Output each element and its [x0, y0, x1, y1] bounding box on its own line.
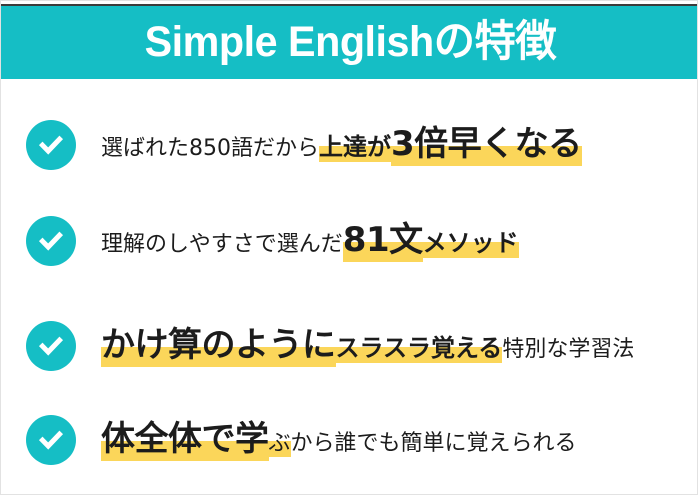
list-item: かけ算のように スラスラ覚える 特別な学習法: [1, 309, 698, 383]
highlighted-segment: ぶ: [269, 432, 291, 455]
slide-canvas: Simple Englishの特徴 選ばれた850語だから 上達が 3倍早くなる: [0, 0, 698, 495]
text-segment: 選ばれた850語だから: [101, 137, 319, 160]
text-segment: 理解のしやすさで選んだ: [101, 233, 343, 256]
text-segment: 81文: [343, 220, 423, 260]
list-item-text: かけ算のように スラスラ覚える 特別な学習法: [101, 328, 698, 364]
text-segment: から誰でも簡単に覚えられる: [291, 432, 577, 455]
header-banner: Simple Englishの特徴: [1, 4, 698, 79]
highlighted-segment: メソッド: [423, 231, 519, 256]
highlighted-segment: かけ算のように: [101, 328, 336, 364]
text-segment: かけ算のように: [101, 325, 336, 365]
text-segment: メソッド: [423, 229, 519, 257]
text-segment: ぶ: [269, 431, 291, 456]
highlighted-segment: 体全体で学: [101, 422, 269, 458]
feature-list: 選ばれた850語だから 上達が 3倍早くなる 理解のしやすさで選んだ: [1, 79, 698, 494]
check-circle-icon: [1, 415, 101, 465]
text-segment: スラスラ覚える: [336, 334, 503, 362]
highlighted-segment: 上達が: [319, 135, 391, 160]
list-item: 体全体で学 ぶ から誰でも簡単に覚えられる: [1, 403, 698, 477]
page-title: Simple Englishの特徴: [144, 21, 556, 64]
list-item-text: 選ばれた850語だから 上達が 3倍早くなる: [101, 127, 698, 163]
check-circle-icon: [1, 216, 101, 266]
list-item: 選ばれた850語だから 上達が 3倍早くなる: [1, 108, 698, 182]
list-item-text: 理解のしやすさで選んだ 81文 メソッド: [101, 223, 698, 259]
highlighted-segment: スラスラ覚える: [336, 336, 503, 361]
highlighted-segment: 3倍早くなる: [391, 127, 582, 163]
list-item-text: 体全体で学 ぶ から誰でも簡単に覚えられる: [101, 422, 698, 458]
text-segment: 体全体で学: [101, 419, 269, 459]
highlighted-segment: 81文: [343, 223, 423, 259]
text-segment: 特別な学習法: [502, 338, 634, 361]
text-segment: 3倍早くなる: [391, 124, 582, 164]
check-circle-icon: [1, 321, 101, 371]
check-circle-icon: [1, 120, 101, 170]
text-segment: 上達が: [319, 133, 391, 161]
list-item: 理解のしやすさで選んだ 81文 メソッド: [1, 204, 698, 278]
